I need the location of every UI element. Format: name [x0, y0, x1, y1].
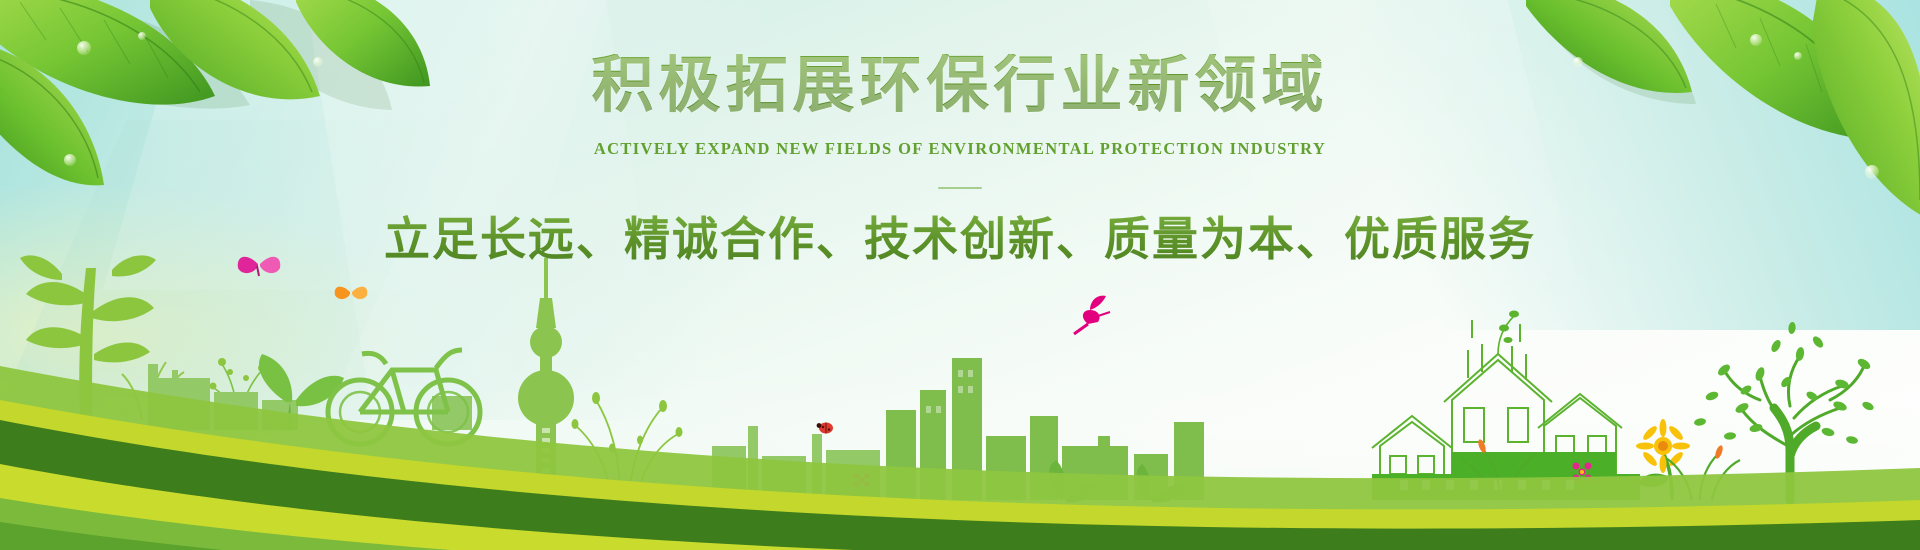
tagline: 立足长远、精诚合作、技术创新、质量为本、优质服务	[384, 215, 1536, 266]
divider-rule	[938, 187, 982, 189]
headline-block: 积极拓展环保行业新领域 ACTIVELY EXPAND NEW FIELDS O…	[0, 0, 1920, 320]
page-title: 积极拓展环保行业新领域	[591, 54, 1328, 119]
eco-banner: 积极拓展环保行业新领域 ACTIVELY EXPAND NEW FIELDS O…	[0, 0, 1920, 550]
page-subtitle: ACTIVELY EXPAND NEW FIELDS OF ENVIRONMEN…	[594, 139, 1326, 159]
